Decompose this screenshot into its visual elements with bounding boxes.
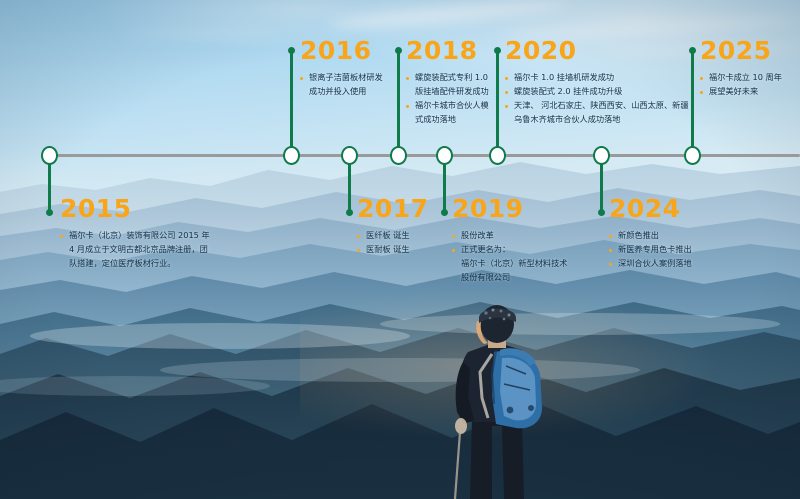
timeline-bullets-2025: 福尔卡成立 10 周年 展望美好未来 [700,70,800,98]
list-item: 医耐板 诞生 [357,242,467,256]
timeline-year-2018: 2018 [406,38,516,63]
timeline-stem-cap-2016 [288,47,295,54]
list-item: 福尔卡城市合伙人模 式成功落地 [406,98,516,126]
timeline-entry-2016[interactable]: 2016 银离子洁菌板材研发 成功并投入使用 [300,38,410,98]
timeline-year-2019: 2019 [452,196,572,221]
hiker-figure [430,300,580,499]
timeline-year-2025: 2025 [700,38,800,63]
list-item: 股份改革 [452,228,572,242]
timeline-node-2018[interactable] [390,146,407,165]
timeline-bullets-2015: 福尔卡（北京）装饰有限公司 2015 年 4 月成立于文明古都北京品牌注册，团 … [60,228,240,270]
list-item: 医纤板 诞生 [357,228,467,242]
timeline-stem-cap-2024 [598,209,605,216]
timeline-year-2020: 2020 [505,38,695,63]
timeline-stem-cap-2015 [46,209,53,216]
timeline-stem-2024 [600,164,603,214]
list-item: 天津、 河北石家庄、陕西西安、山西太原、新疆 乌鲁木齐城市合伙人成功落地 [505,98,695,126]
timeline-entry-2018[interactable]: 2018 螺旋装配式专利 1.0 版挂墙配件研发成功 福尔卡城市合伙人模 式成功… [406,38,516,126]
infographic-stage: 2015 福尔卡（北京）装饰有限公司 2015 年 4 月成立于文明古都北京品牌… [0,0,800,499]
list-item: 福尔卡 1.0 挂墙机研发成功 [505,70,695,84]
timeline-bullets-2019: 股份改革 正式更名为： 福尔卡（北京）新型材料技术 股份有限公司 [452,228,572,284]
list-item: 银离子洁菌板材研发 成功并投入使用 [300,70,410,98]
list-item: 新医养专用色卡推出 [609,242,739,256]
timeline-entry-2015[interactable]: 2015 福尔卡（北京）装饰有限公司 2015 年 4 月成立于文明古都北京品牌… [60,196,240,270]
timeline-stem-2017 [348,164,351,214]
timeline-bullets-2016: 银离子洁菌板材研发 成功并投入使用 [300,70,410,98]
timeline-stem-cap-2017 [346,209,353,216]
list-item: 福尔卡成立 10 周年 [700,70,800,84]
timeline-bullets-2024: 新颜色推出 新医养专用色卡推出 深圳合伙人案例落地 [609,228,739,270]
timeline-year-2024: 2024 [609,196,739,221]
timeline-node-2025[interactable] [684,146,701,165]
timeline-entry-2017[interactable]: 2017 医纤板 诞生 医耐板 诞生 [357,196,467,256]
timeline-entry-2020[interactable]: 2020 福尔卡 1.0 挂墙机研发成功 螺旋装配式 2.0 挂件成功升级 天津… [505,38,695,126]
timeline-year-2017: 2017 [357,196,467,221]
list-item: 福尔卡（北京）装饰有限公司 2015 年 4 月成立于文明古都北京品牌注册，团 … [60,228,240,270]
timeline-year-2016: 2016 [300,38,410,63]
timeline-bullets-2020: 福尔卡 1.0 挂墙机研发成功 螺旋装配式 2.0 挂件成功升级 天津、 河北石… [505,70,695,126]
list-item: 深圳合伙人案例落地 [609,256,739,270]
timeline-stem-2016 [290,50,293,150]
timeline-node-2016[interactable] [283,146,300,165]
timeline-stem-2015 [48,164,51,214]
cloud-wisp [120,30,280,39]
list-item: 新颜色推出 [609,228,739,242]
timeline-year-2015: 2015 [60,196,240,221]
list-item: 正式更名为： 福尔卡（北京）新型材料技术 股份有限公司 [452,242,572,284]
timeline-node-2015[interactable] [41,146,58,165]
timeline-entry-2025[interactable]: 2025 福尔卡成立 10 周年 展望美好未来 [700,38,800,98]
timeline-node-2020[interactable] [489,146,506,165]
timeline-entry-2024[interactable]: 2024 新颜色推出 新医养专用色卡推出 深圳合伙人案例落地 [609,196,739,270]
list-item: 螺旋装配式 2.0 挂件成功升级 [505,84,695,98]
timeline-entry-2019[interactable]: 2019 股份改革 正式更名为： 福尔卡（北京）新型材料技术 股份有限公司 [452,196,572,284]
timeline-bullets-2018: 螺旋装配式专利 1.0 版挂墙配件研发成功 福尔卡城市合伙人模 式成功落地 [406,70,516,126]
timeline-node-2017[interactable] [341,146,358,165]
timeline-node-2024[interactable] [593,146,610,165]
list-item: 螺旋装配式专利 1.0 版挂墙配件研发成功 [406,70,516,98]
list-item: 展望美好未来 [700,84,800,98]
timeline-bullets-2017: 医纤板 诞生 医耐板 诞生 [357,228,467,256]
timeline-node-2019[interactable] [436,146,453,165]
